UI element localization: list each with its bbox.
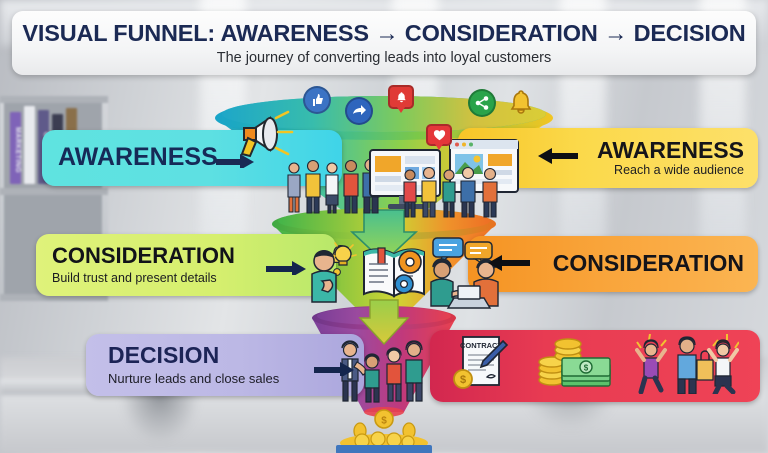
banner-awareness-right-label: AWARENESS	[597, 139, 744, 162]
svg-text:$: $	[584, 363, 589, 372]
arrow-right-decision	[314, 356, 356, 376]
banner-decision-right[interactable]: CONTRACT $ $	[430, 330, 760, 402]
arrow-left-awareness	[536, 148, 578, 168]
banner-consideration-left-subtitle: Build trust and present details	[52, 271, 217, 285]
celebrating-people-icon	[635, 334, 739, 399]
banner-decision-left-label: DECISION	[108, 344, 219, 367]
arrow-left-consideration	[486, 255, 530, 275]
share-arrow-icon	[345, 97, 373, 125]
banner-decision-left-subtitle: Nurture leads and close sales	[108, 371, 279, 386]
banner-consideration-right-label: CONSIDERATION	[553, 252, 744, 275]
svg-text:$: $	[460, 374, 466, 386]
heart-icon	[426, 124, 452, 146]
arrow-right-consideration	[266, 255, 308, 275]
thumbs-up-icon	[303, 86, 331, 114]
notification-bell-icon	[388, 85, 414, 109]
contract-icon: CONTRACT $	[451, 335, 511, 398]
money-stack-icon: $	[534, 338, 612, 395]
banner-awareness-right-subtitle: Reach a wide audience	[614, 163, 744, 177]
svg-text:$: $	[381, 416, 387, 427]
arrow-right-awareness	[216, 148, 256, 168]
coin-tray	[336, 432, 432, 453]
person-thinking-icon	[306, 240, 362, 302]
banner-awareness-left-label: AWARENESS	[58, 145, 218, 171]
crowd-icon	[402, 168, 514, 218]
banner-consideration-left-label: CONSIDERATION	[52, 245, 235, 267]
open-book-icon	[360, 242, 430, 302]
share-network-icon	[468, 89, 496, 117]
bell-icon	[508, 88, 534, 118]
